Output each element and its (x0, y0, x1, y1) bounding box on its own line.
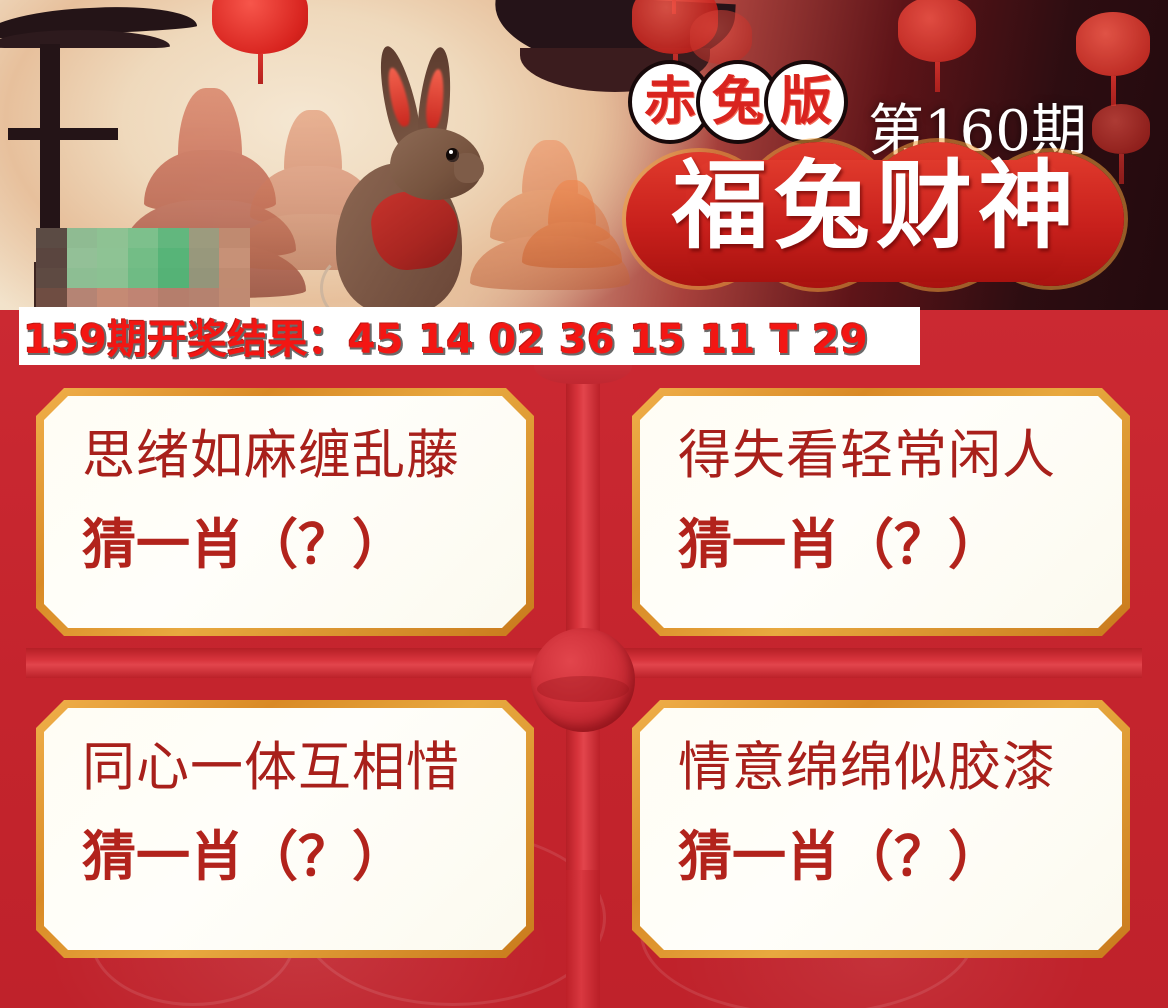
riddle-card-1-inner: 思绪如麻缠乱藤 猜一肖（？） (44, 396, 526, 628)
riddle-card-4-inner: 情意绵绵似胶漆 猜一肖（？） (640, 708, 1122, 950)
ribbon-tail (566, 870, 600, 1008)
riddle-card-4-guess: 猜一肖（？） (678, 827, 1106, 886)
riddle-card-4-riddle: 情意绵绵似胶漆 (678, 738, 1106, 797)
edition-badge: 赤 兔 版 (628, 60, 832, 144)
riddle-card-3-inner: 同心一体互相惜 猜一肖（？） (44, 708, 526, 950)
edition-badge-char-2-text: 兔 (712, 76, 764, 128)
riddle-card-1[interactable]: 思绪如麻缠乱藤 猜一肖（？） (44, 396, 526, 628)
lantern-icon-3 (690, 10, 752, 64)
edition-badge-char-3: 版 (764, 60, 848, 144)
riddle-card-2-inner: 得失看轻常闲人 猜一肖（？） (640, 396, 1122, 628)
edition-badge-char-1-text: 赤 (644, 76, 696, 128)
draw-result-bar: 159期开奖结果：45 14 02 36 15 11 T 29 (19, 307, 920, 365)
pagoda-small (512, 180, 632, 310)
riddle-card-1-riddle: 思绪如麻缠乱藤 (82, 426, 510, 485)
riddle-card-2-guess: 猜一肖（？） (678, 515, 1106, 574)
riddle-card-3-guess: 猜一肖（？） (82, 827, 510, 886)
riddle-card-2-riddle: 得失看轻常闲人 (678, 426, 1106, 485)
riddle-card-4[interactable]: 情意绵绵似胶漆 猜一肖（？） (640, 708, 1122, 950)
riddle-card-2[interactable]: 得失看轻常闲人 猜一肖（？） (640, 396, 1122, 628)
riddle-card-3-riddle: 同心一体互相惜 (82, 738, 510, 797)
mosaic-censor-block (36, 228, 250, 308)
riddle-card-1-guess: 猜一肖（？） (82, 515, 510, 574)
title-plaque-text: 福兔财神 (626, 156, 1126, 257)
hero-banner: 赤 兔 版 第160期 福兔财神 (0, 0, 1168, 310)
page-root: 赤 兔 版 第160期 福兔财神 159期开奖结果：45 14 02 36 15… (0, 0, 1168, 1008)
torii-cross-beam (8, 128, 118, 140)
draw-result-text: 159期开奖结果：45 14 02 36 15 11 T 29 (23, 307, 868, 365)
ribbon-knot (531, 628, 635, 732)
title-group: 赤 兔 版 第160期 福兔财神 (618, 58, 1158, 293)
lantern-icon-4 (898, 0, 976, 62)
edition-badge-char-3-text: 版 (780, 76, 832, 128)
rabbit-eye (446, 148, 459, 162)
riddle-card-3[interactable]: 同心一体互相惜 猜一肖（？） (44, 708, 526, 950)
title-plaque: 福兔财神 (626, 142, 1126, 290)
rabbit-illustration (312, 45, 502, 310)
riddle-grid: 思绪如麻缠乱藤 猜一肖（？） 得失看轻常闲人 猜一肖（？） 同心一体互相惜 猜一… (0, 310, 1168, 1008)
